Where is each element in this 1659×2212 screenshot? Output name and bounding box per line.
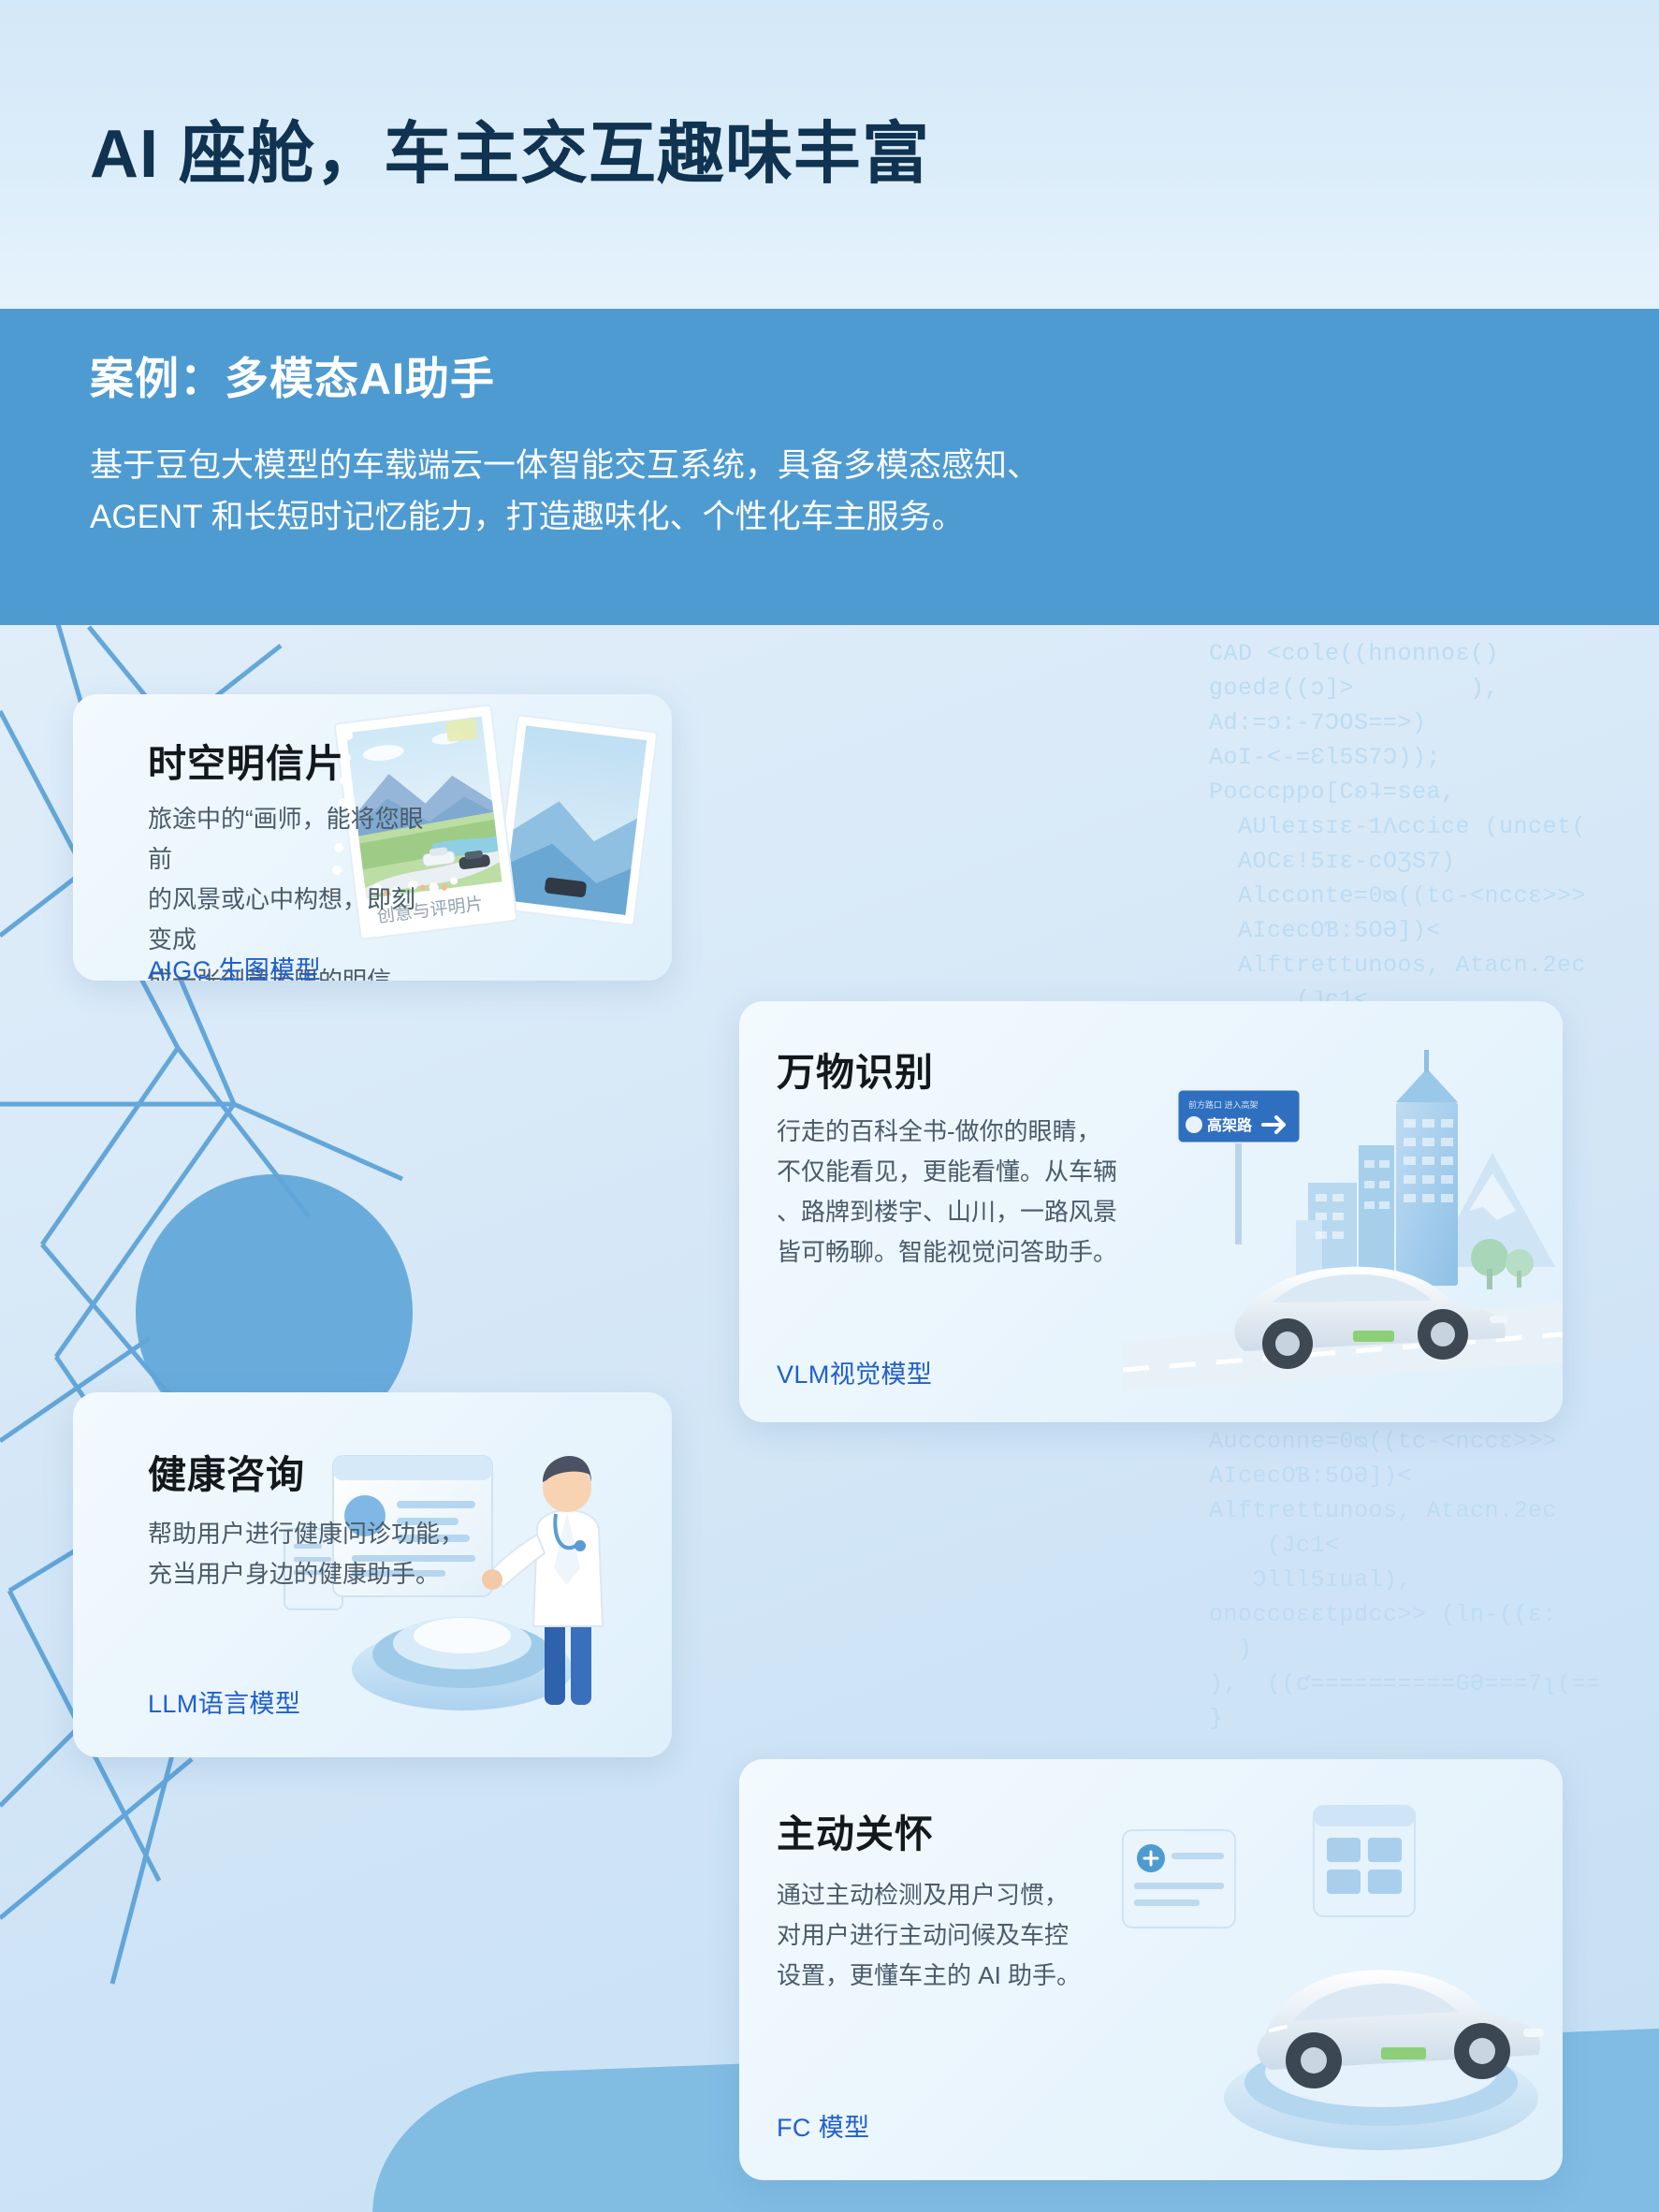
card-tag-vlm[interactable]: VLM视觉模型 — [777, 1354, 932, 1390]
card-desc-line: 行走的百科全书-做你的眼睛， — [777, 1112, 1198, 1152]
svg-text:高架路: 高架路 — [1207, 1116, 1253, 1134]
card-description: 帮助用户进行健康问诊功能， 充当用户身边的健康助手。 — [148, 1514, 503, 1594]
card-description: 通过主动检测及用户习惯， 对用户进行主动问候及车控 设置，更懂车主的 AI 助手… — [777, 1875, 1151, 1996]
card-desc-line: 旅途中的“画师，能将您眼前 — [148, 799, 429, 880]
right-ui-panel — [1314, 1806, 1415, 1916]
card-desc-line: 对用户进行主动问候及车控 — [777, 1915, 1151, 1956]
banner-title: 案例：多模态AI助手 — [90, 342, 495, 407]
svg-text:前方路口 进入高架: 前方路口 进入高架 — [1188, 1099, 1259, 1110]
card-tag-llm[interactable]: LLM语言模型 — [148, 1683, 300, 1720]
card-title: 万物识别 — [777, 1041, 934, 1097]
car-illustration — [1258, 1970, 1544, 2088]
card-care[interactable]: 主动关怀 通过主动检测及用户习惯， 对用户进行主动问候及车控 设置，更懂车主的 … — [739, 1759, 1563, 2180]
card-desc-line: 皆可畅聊。智能视觉问答助手。 — [777, 1232, 1198, 1273]
card-desc-line: 帮助用户进行健康问诊功能， — [148, 1514, 503, 1554]
card-desc-line: 不仅能看见，更能看懂。从车辆 — [777, 1152, 1198, 1192]
card-recognition[interactable]: 前方路口 进入高架 高架路 万物识别 — [739, 1001, 1563, 1422]
poster-root: p======ɔ-(==========0====ɔ=((oa } CAD <c… — [0, 0, 1659, 2212]
card-tag-aigc[interactable]: AIGC 生图模型 — [148, 950, 321, 981]
banner-desc-line: AGENT 和长短时记忆能力，打造趣味化、个性化车主服务。 — [90, 491, 1194, 543]
card-desc-line: 、路牌到楼宇、山川，一路风景 — [777, 1192, 1198, 1232]
card-postcard[interactable]: 创意与评明片 时空明信片 旅途中的“画师，能将您眼前 的风景或心中构想，即刻变成… — [73, 694, 672, 981]
card-desc-line: 通过主动检测及用户习惯， — [777, 1875, 1151, 1915]
page-header: AI 座舱，车主交互趣味丰富 — [0, 0, 1659, 309]
card-title: 主动关怀 — [777, 1802, 934, 1858]
card-title: 健康咨询 — [148, 1443, 305, 1499]
card-description: 行走的百科全书-做你的眼睛， 不仅能看见，更能看懂。从车辆 、路牌到楼宇、山川，… — [777, 1112, 1198, 1273]
card-desc-line: 设置，更懂车主的 AI 助手。 — [777, 1956, 1151, 1996]
card-desc-line: 的风景或心中构想，即刻变成 — [148, 880, 429, 960]
case-banner: 案例：多模态AI助手 基于豆包大模型的车载端云一体智能交互系统，具备多模态感知、… — [0, 309, 1659, 625]
car-podium-panels-illustration — [1113, 1797, 1553, 2161]
card-health[interactable]: 健康咨询 帮助用户进行健康问诊功能， 充当用户身边的健康助手。 LLM语言模型 — [73, 1392, 672, 1757]
card-desc-line: 充当用户身边的健康助手。 — [148, 1554, 503, 1594]
banner-description: 基于豆包大模型的车载端云一体智能交互系统，具备多模态感知、 AGENT 和长短时… — [90, 440, 1194, 544]
car-illustration — [1234, 1267, 1508, 1369]
banner-desc-line: 基于豆包大模型的车载端云一体智能交互系统，具备多模态感知、 — [90, 440, 1194, 491]
card-tag-fc[interactable]: FC 模型 — [777, 2107, 870, 2144]
card-title: 时空明信片 — [148, 732, 344, 788]
page-title: AI 座舱，车主交互趣味丰富 — [90, 98, 930, 196]
